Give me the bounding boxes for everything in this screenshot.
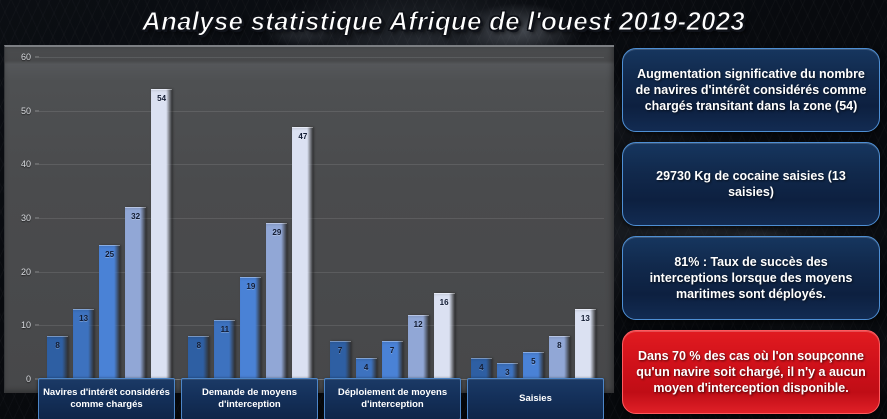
bar-2020-0[interactable]: 13	[73, 309, 94, 379]
bar-slot: 5	[523, 57, 544, 379]
bar-slot: 32	[125, 57, 146, 379]
callout-navires-charges: Augmentation significative du nombre de …	[622, 48, 880, 132]
callout-panel: Augmentation significative du nombre de …	[622, 48, 880, 414]
y-axis-tick-10: 10	[21, 320, 31, 330]
bar-slot: 8	[47, 57, 68, 379]
bar-2019-0[interactable]: 8	[47, 336, 68, 379]
bar-value-label: 12	[414, 320, 423, 329]
bar-2023-3[interactable]: 13	[575, 309, 596, 379]
category-label-3: Saisies	[467, 378, 604, 419]
bar-slot: 7	[382, 57, 403, 379]
bar-2019-1[interactable]: 8	[188, 336, 209, 379]
bar-value-label: 4	[364, 363, 368, 372]
bar-2023-1[interactable]: 47	[292, 127, 313, 379]
bar-2022-3[interactable]: 8	[549, 336, 570, 379]
chart-bar-groups: 8132532548111929477471216435813	[39, 57, 604, 379]
bar-value-label: 5	[531, 357, 535, 366]
bar-slot: 19	[240, 57, 261, 379]
bar-slot: 13	[575, 57, 596, 379]
callout-aucun-moyen: Dans 70 % des cas où l'on soupçonne qu'u…	[622, 330, 880, 414]
bar-2021-1[interactable]: 19	[240, 277, 261, 379]
bar-value-label: 25	[105, 250, 114, 259]
bar-slot: 25	[99, 57, 120, 379]
callout-text-cocaine-saisies: 29730 Kg de cocaine saisies (13 saisies)	[635, 168, 867, 200]
bar-2019-3[interactable]: 4	[471, 358, 492, 379]
bar-slot: 7	[330, 57, 351, 379]
callout-text-navires-charges: Augmentation significative du nombre de …	[635, 66, 867, 114]
chart-category-labels: Navires d'intérêt considérés comme charg…	[38, 378, 604, 419]
bar-2021-0[interactable]: 25	[99, 245, 120, 379]
bar-value-label: 4	[479, 363, 483, 372]
bar-slot: 11	[214, 57, 235, 379]
bar-2023-2[interactable]: 16	[434, 293, 455, 379]
y-axis-tick-60: 60	[21, 52, 31, 62]
bar-2023-0[interactable]: 54	[151, 89, 172, 379]
bar-slot: 8	[188, 57, 209, 379]
page-title: Analyse statistique Afrique de l'ouest 2…	[142, 6, 745, 37]
bar-value-label: 13	[79, 314, 88, 323]
bar-slot: 16	[434, 57, 455, 379]
bar-slot: 12	[408, 57, 429, 379]
bar-2020-2[interactable]: 4	[356, 358, 377, 379]
bar-value-label: 54	[157, 94, 166, 103]
bar-group: 435813	[463, 57, 604, 379]
bar-2021-3[interactable]: 5	[523, 352, 544, 379]
category-label-1: Demande de moyens d'interception	[181, 378, 318, 419]
callout-text-aucun-moyen: Dans 70 % des cas où l'on soupçonne qu'u…	[635, 348, 867, 396]
bar-slot: 3	[497, 57, 518, 379]
bar-2022-1[interactable]: 29	[266, 223, 287, 379]
bar-slot: 29	[266, 57, 287, 379]
category-label-2: Déploiement de moyens d'interception	[324, 378, 461, 419]
callout-taux-succes: 81% : Taux de succès des interceptions l…	[622, 236, 880, 320]
bar-slot: 8	[549, 57, 570, 379]
bar-2020-3[interactable]: 3	[497, 363, 518, 379]
y-axis-tick-40: 40	[21, 159, 31, 169]
bar-slot: 4	[471, 57, 492, 379]
bar-value-label: 8	[557, 341, 561, 350]
bar-group: 813253254	[39, 57, 180, 379]
bar-slot: 54	[151, 57, 172, 379]
category-label-0: Navires d'intérêt considérés comme charg…	[38, 378, 175, 419]
y-axis-tick-20: 20	[21, 267, 31, 277]
bar-chart: 0102030405060 81325325481119294774712164…	[4, 45, 614, 417]
bar-value-label: 16	[440, 298, 449, 307]
bar-2022-0[interactable]: 32	[125, 207, 146, 379]
callout-text-taux-succes: 81% : Taux de succès des interceptions l…	[635, 254, 867, 302]
bar-value-label: 3	[505, 368, 509, 377]
page-title-bar: Analyse statistique Afrique de l'ouest 2…	[0, 0, 887, 42]
bar-value-label: 8	[197, 341, 201, 350]
y-axis-tick-0: 0	[26, 374, 31, 384]
bar-2021-2[interactable]: 7	[382, 341, 403, 379]
bar-slot: 13	[73, 57, 94, 379]
bar-2019-2[interactable]: 7	[330, 341, 351, 379]
bar-2022-2[interactable]: 12	[408, 315, 429, 379]
bar-group: 811192947	[180, 57, 321, 379]
bar-2020-1[interactable]: 11	[214, 320, 235, 379]
chart-plot-frame: 0102030405060 81325325481119294774712164…	[4, 45, 614, 393]
bar-value-label: 7	[338, 346, 342, 355]
bar-group: 7471216	[322, 57, 463, 379]
callout-cocaine-saisies: 29730 Kg de cocaine saisies (13 saisies)	[622, 142, 880, 226]
y-axis-tick-50: 50	[21, 106, 31, 116]
bar-slot: 4	[356, 57, 377, 379]
bar-value-label: 19	[246, 282, 255, 291]
bar-value-label: 29	[272, 228, 281, 237]
bar-value-label: 47	[298, 132, 307, 141]
bar-slot: 47	[292, 57, 313, 379]
bar-value-label: 11	[221, 325, 229, 334]
chart-plot-area: 0102030405060 81325325481119294774712164…	[39, 57, 604, 379]
bar-value-label: 7	[390, 346, 394, 355]
bar-value-label: 8	[55, 341, 59, 350]
y-axis-tick-30: 30	[21, 213, 31, 223]
bar-value-label: 32	[131, 212, 140, 221]
bar-value-label: 13	[581, 314, 590, 323]
